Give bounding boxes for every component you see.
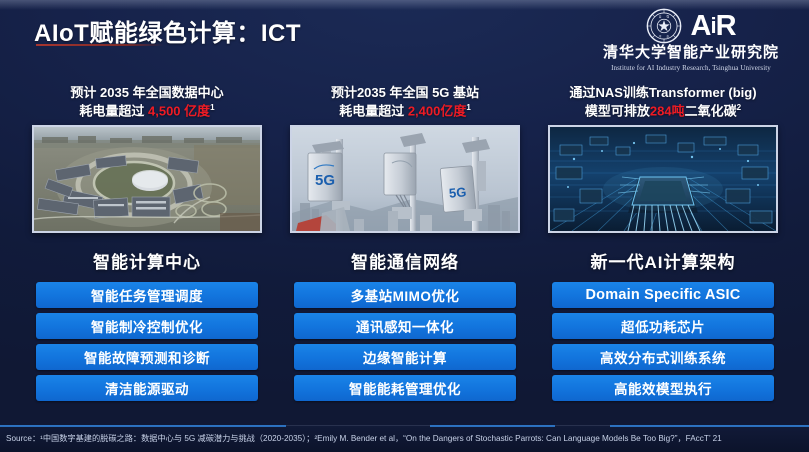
feature-pill[interactable]: 通讯感知一体化 bbox=[294, 313, 516, 339]
logo-mark-row: 自强 不息 AiR bbox=[585, 6, 797, 46]
feature-pill[interactable]: 边缘智能计算 bbox=[294, 344, 516, 370]
footer-accent-bar bbox=[430, 425, 555, 427]
caption-line-1: 预计 2035 年全国数据中心 bbox=[70, 85, 223, 100]
section-title: 智能计算中心 bbox=[32, 248, 262, 273]
columns-area: 预计 2035 年全国数据中心 耗电量超过 4,500 亿度1 bbox=[0, 84, 809, 426]
title-underline bbox=[36, 44, 164, 46]
svg-text:息: 息 bbox=[667, 34, 670, 38]
section-title: 智能通信网络 bbox=[290, 248, 520, 273]
page-title: AIoT赋能绿色计算：ICT bbox=[34, 13, 301, 48]
footer-accent-bar bbox=[0, 425, 286, 427]
feature-pill[interactable]: 清洁能源驱动 bbox=[36, 375, 258, 401]
column-caption: 预计 2035 年全国数据中心 耗电量超过 4,500 亿度1 bbox=[32, 84, 262, 122]
feature-pill[interactable]: 超低功耗芯片 bbox=[552, 313, 774, 339]
column-caption: 通过NAS训练Transformer (big) 模型可排放284吨二氧化碳2 bbox=[548, 84, 778, 122]
column-next-gen-ai-architecture: 通过NAS训练Transformer (big) 模型可排放284吨二氧化碳2 bbox=[548, 84, 778, 406]
feature-pill[interactable]: 高效分布式训练系统 bbox=[552, 344, 774, 370]
tsinghua-seal-icon: 自强 不息 bbox=[646, 8, 682, 44]
slide-footer: Source：¹中国数字基建的脱碳之路：数据中心与 5G 减碳潜力与挑战（202… bbox=[0, 425, 809, 452]
air-wordmark: AiR bbox=[690, 12, 735, 41]
feature-pill[interactable]: 智能任务管理调度 bbox=[36, 282, 258, 308]
column-caption: 预计2035 年全国 5G 基站 耗电量超过 2,400亿度1 bbox=[290, 84, 520, 122]
slide-canvas: AIoT赋能绿色计算：ICT bbox=[0, 0, 809, 452]
footer-accent-bar bbox=[610, 425, 809, 427]
svg-text:不: 不 bbox=[659, 35, 662, 38]
caption-line-2-prefix: 耗电量超过 bbox=[339, 104, 408, 119]
data-center-aerial-photo bbox=[32, 125, 262, 233]
logo-cn-name: 清华大学智能产业研究院 bbox=[585, 45, 797, 62]
column-intelligent-computing-center: 预计 2035 年全国数据中心 耗电量超过 4,500 亿度1 bbox=[32, 84, 262, 406]
feature-pill[interactable]: 多基站MIMO优化 bbox=[294, 282, 516, 308]
feature-pill[interactable]: 智能制冷控制优化 bbox=[36, 313, 258, 339]
cpu-chip-circuit-board-photo bbox=[548, 125, 778, 233]
source-citation: Source：¹中国数字基建的脱碳之路：数据中心与 5G 减碳潜力与挑战（202… bbox=[6, 432, 722, 444]
caption-footnote-marker: 1 bbox=[210, 103, 214, 112]
caption-highlight: 4,500 亿度 bbox=[148, 104, 210, 119]
svg-text:自: 自 bbox=[659, 15, 662, 19]
air-logo: 自强 不息 AiR 清华大学智能产业研究院 Institute for AI I… bbox=[585, 6, 797, 76]
slide-header: AIoT赋能绿色计算：ICT bbox=[0, 0, 809, 80]
caption-line-2-suffix: 二氧化碳 bbox=[685, 104, 737, 119]
caption-footnote-marker: 1 bbox=[466, 103, 470, 112]
column-intelligent-communication-network: 预计2035 年全国 5G 基站 耗电量超过 2,400亿度1 bbox=[290, 84, 520, 406]
section-title: 新一代AI计算架构 bbox=[548, 248, 778, 273]
caption-line-1: 通过NAS训练Transformer (big) bbox=[569, 85, 756, 100]
svg-text:强: 强 bbox=[667, 15, 670, 19]
caption-highlight: 284吨 bbox=[650, 104, 685, 119]
feature-pill[interactable]: 智能能耗管理优化 bbox=[294, 375, 516, 401]
caption-line-2-prefix: 耗电量超过 bbox=[79, 104, 148, 119]
caption-line-1: 预计2035 年全国 5G 基站 bbox=[331, 85, 479, 100]
svg-text:5G: 5G bbox=[315, 172, 335, 189]
caption-footnote-marker: 2 bbox=[737, 103, 741, 112]
logo-en-name: Institute for AI Industry Research, Tsin… bbox=[585, 64, 797, 72]
5g-base-station-photo: 5G bbox=[290, 125, 520, 233]
caption-highlight: 2,400亿度 bbox=[408, 104, 467, 119]
svg-text:5G: 5G bbox=[448, 184, 467, 200]
feature-pill[interactable]: Domain Specific ASIC bbox=[552, 282, 774, 308]
caption-line-2-prefix: 模型可排放 bbox=[585, 104, 650, 119]
feature-pill[interactable]: 高能效模型执行 bbox=[552, 375, 774, 401]
feature-pill[interactable]: 智能故障预测和诊断 bbox=[36, 344, 258, 370]
